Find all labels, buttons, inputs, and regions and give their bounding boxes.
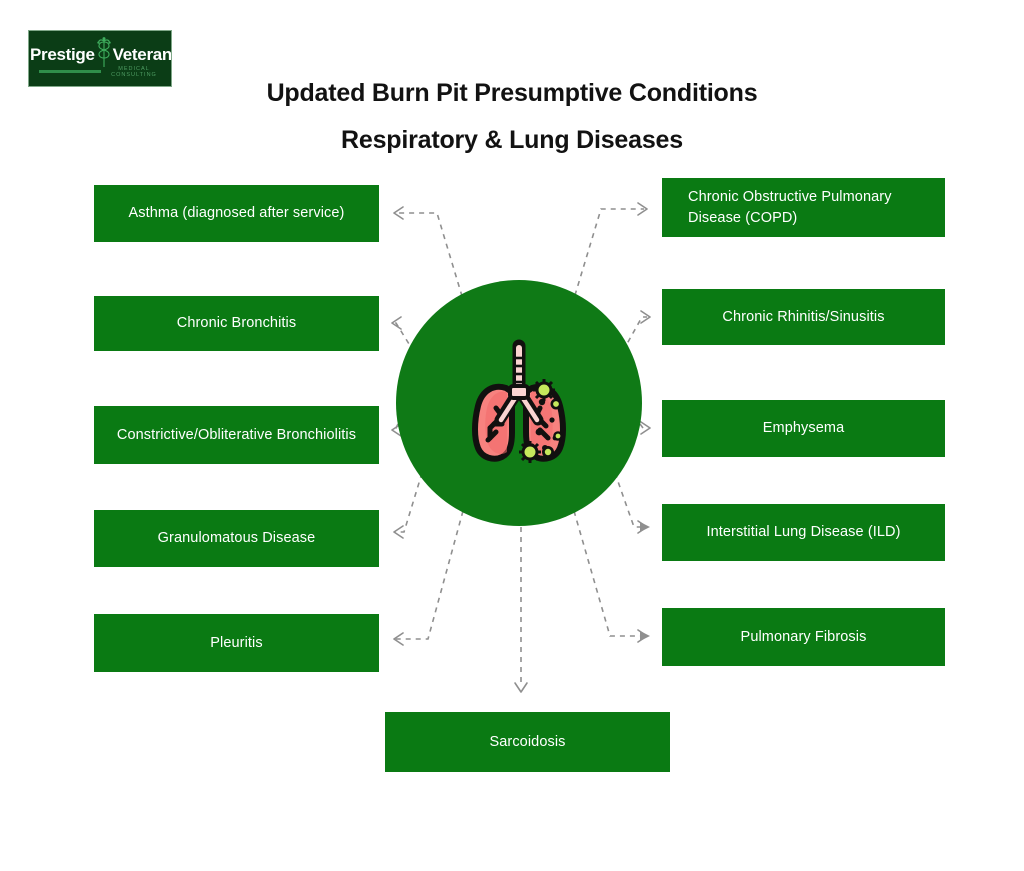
connector-right-1	[572, 209, 644, 305]
connector-right-5	[574, 511, 644, 636]
node-label: Pulmonary Fibrosis	[662, 627, 945, 648]
node-sarcoidosis[interactable]: Sarcoidosis	[385, 712, 670, 772]
node-label: Pleuritis	[94, 633, 379, 654]
infographic-canvas: Prestige Veteran MEDICAL CON	[0, 0, 1024, 871]
node-asthma[interactable]: Asthma (diagnosed after service)	[94, 185, 379, 242]
node-granulomatous-disease[interactable]: Granulomatous Disease	[94, 510, 379, 567]
node-chronic-bronchitis[interactable]: Chronic Bronchitis	[94, 296, 379, 351]
node-label: Asthma (diagnosed after service)	[94, 203, 379, 224]
connector-right-4	[615, 473, 644, 527]
connector-left-1	[394, 213, 465, 306]
node-label: Interstitial Lung Disease (ILD)	[662, 522, 945, 543]
node-pleuritis[interactable]: Pleuritis	[94, 614, 379, 672]
node-label: Granulomatous Disease	[94, 528, 379, 549]
node-emphysema[interactable]: Emphysema	[662, 400, 945, 457]
node-label: Constrictive/Obliterative Bronchiolitis	[94, 425, 379, 446]
hub-circle	[396, 280, 642, 526]
node-rhinitis-sinusitis[interactable]: Chronic Rhinitis/Sinusitis	[662, 289, 945, 345]
node-label: Emphysema	[662, 418, 945, 439]
node-label: Chronic Bronchitis	[94, 313, 379, 334]
node-label: Chronic Obstructive Pulmonary Disease (C…	[662, 187, 945, 229]
node-interstitial-lung-disease[interactable]: Interstitial Lung Disease (ILD)	[662, 504, 945, 561]
node-bronchiolitis[interactable]: Constrictive/Obliterative Bronchiolitis	[94, 406, 379, 464]
arrowhead-right-4-fill	[640, 522, 650, 532]
node-label: Sarcoidosis	[385, 732, 670, 753]
node-pulmonary-fibrosis[interactable]: Pulmonary Fibrosis	[662, 608, 945, 666]
connector-left-5	[394, 511, 463, 639]
node-copd[interactable]: Chronic Obstructive Pulmonary Disease (C…	[662, 178, 945, 237]
lungs-icon	[444, 328, 594, 478]
arrowhead-right-5-fill	[640, 631, 650, 641]
connector-left-4	[394, 473, 422, 532]
node-label: Chronic Rhinitis/Sinusitis	[662, 307, 945, 328]
arrowhead-bottom-1	[515, 683, 527, 692]
